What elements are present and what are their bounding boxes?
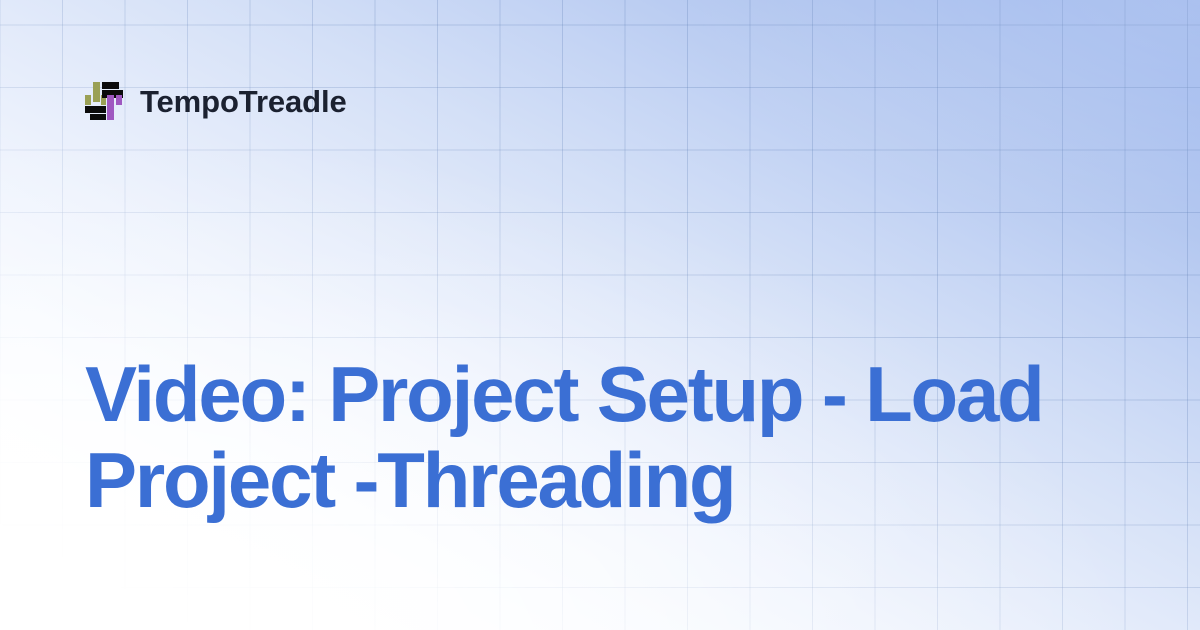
logo-block-olive-small bbox=[85, 95, 91, 105]
brand-name: TempoTreadle bbox=[140, 86, 347, 117]
tempotreadle-blocks-logo-icon bbox=[85, 82, 123, 120]
og-share-card: TempoTreadle Video: Project Setup - Load… bbox=[0, 0, 1200, 630]
logo-block-dark-bottom bbox=[90, 114, 106, 120]
logo-block-olive-tall bbox=[93, 82, 100, 102]
logo-block-purple-chip bbox=[116, 95, 122, 105]
brand-lockup[interactable]: TempoTreadle bbox=[85, 78, 347, 124]
logo-block-dark-top bbox=[102, 82, 119, 89]
logo-block-dark-wide bbox=[85, 106, 106, 113]
logo-block-purple-stem bbox=[107, 95, 114, 120]
page-title: Video: Project Setup - Load Project -Thr… bbox=[85, 352, 1105, 524]
